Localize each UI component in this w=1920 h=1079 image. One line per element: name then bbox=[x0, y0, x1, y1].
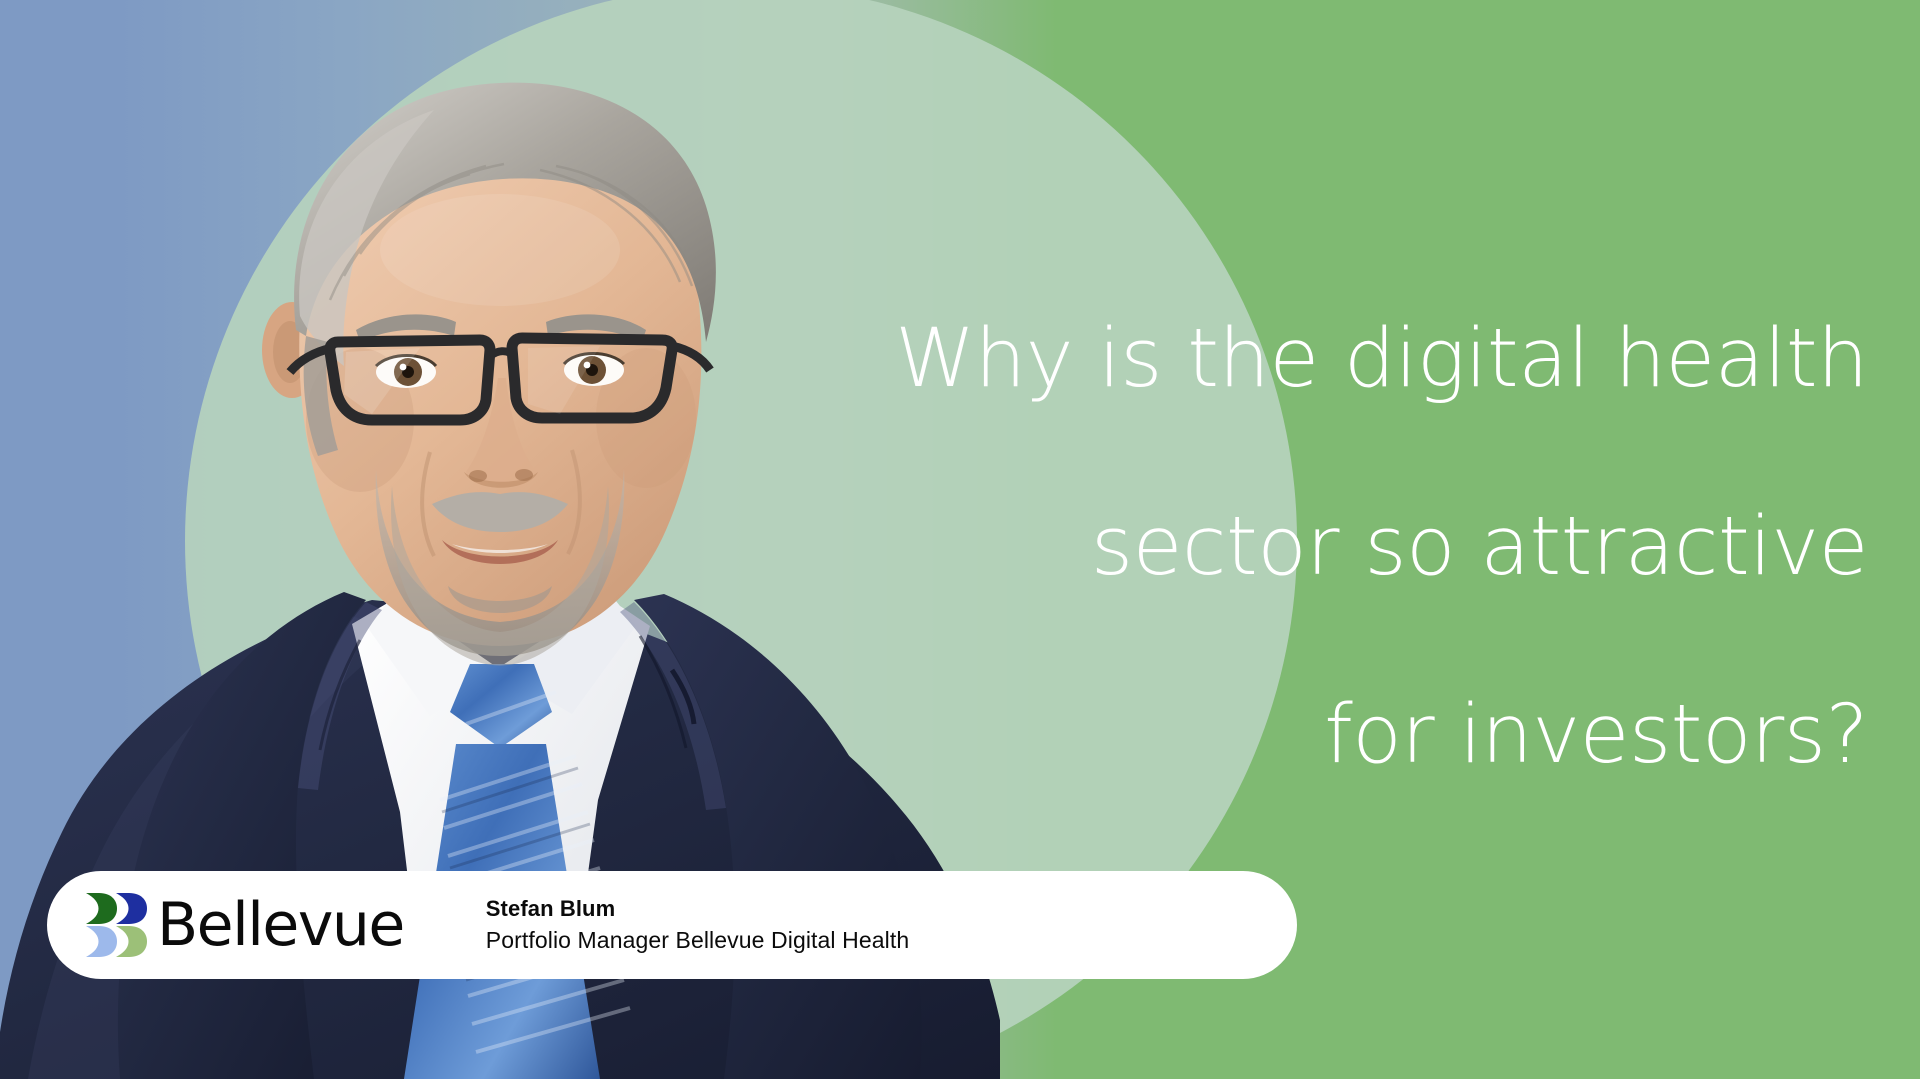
brand-logo[interactable]: Bellevue bbox=[85, 892, 404, 958]
title-line-2: sector so attractive bbox=[688, 500, 1868, 594]
title-line-3: for investors? bbox=[688, 688, 1868, 782]
speaker-name: Stefan Blum bbox=[486, 894, 909, 924]
speaker-role: Portfolio Manager Bellevue Digital Healt… bbox=[486, 924, 909, 956]
speaker-info: Stefan Blum Portfolio Manager Bellevue D… bbox=[486, 894, 909, 956]
bellevue-logo-icon bbox=[85, 892, 147, 958]
presentation-slide: Why is the digital health sector so attr… bbox=[0, 0, 1920, 1079]
title-line-1: Why is the digital health bbox=[688, 312, 1868, 406]
page-title: Why is the digital health sector so attr… bbox=[688, 218, 1868, 876]
brand-wordmark: Bellevue bbox=[157, 895, 404, 955]
branding-bar: Bellevue Stefan Blum Portfolio Manager B… bbox=[47, 871, 1297, 979]
